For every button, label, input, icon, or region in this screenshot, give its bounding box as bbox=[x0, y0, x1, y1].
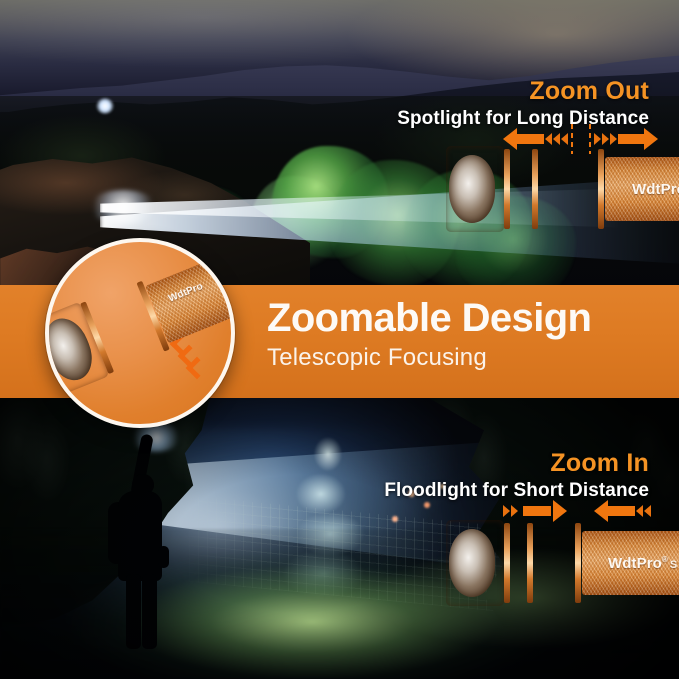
banner-text-block: Zoomable Design Telescopic Focusing bbox=[267, 297, 591, 372]
chevron-icon bbox=[610, 133, 617, 145]
zoom-out-arrow-group bbox=[503, 128, 658, 150]
chevron-icon bbox=[545, 131, 567, 147]
flashlight-zoom-barrel bbox=[539, 151, 599, 227]
product-feature-image: Zoom Out Spotlight for Long Distance bbox=[0, 0, 679, 679]
chevron-icon bbox=[602, 133, 609, 145]
brand-logo: WdtPro® bbox=[632, 181, 679, 198]
arrow-right-icon bbox=[594, 128, 658, 150]
arrow-right-icon bbox=[503, 500, 567, 522]
flashlight-ring bbox=[575, 523, 581, 603]
zoom-out-title: Zoom Out bbox=[397, 78, 649, 106]
zoom-out-label-block: Zoom Out Spotlight for Long Distance bbox=[397, 78, 649, 129]
flashlight-ring bbox=[504, 523, 510, 603]
arrow-left-icon bbox=[594, 500, 658, 522]
chevron-icon bbox=[644, 505, 651, 517]
flashlight-extended: WdtPro® bbox=[446, 141, 679, 237]
spotlight-source bbox=[96, 98, 114, 114]
center-dash-line bbox=[571, 124, 573, 154]
product-closeup-circle: WdtPro bbox=[45, 238, 235, 428]
banner-headline: Zoomable Design bbox=[267, 297, 591, 339]
flashlight-ring bbox=[504, 149, 510, 229]
arrow-right-tip bbox=[553, 500, 567, 522]
banner-subheadline: Telescopic Focusing bbox=[267, 344, 591, 372]
zoom-out-subtitle: Spotlight for Long Distance bbox=[397, 108, 649, 130]
chevron-icon bbox=[511, 505, 518, 517]
arrow-right-shaft bbox=[523, 506, 551, 516]
flashlight-ring bbox=[598, 149, 604, 229]
chevron-icon bbox=[636, 505, 643, 517]
center-dash-line bbox=[589, 124, 591, 154]
arrow-right-tip bbox=[644, 128, 658, 150]
chevron-icon bbox=[594, 133, 601, 145]
chevron-icon bbox=[553, 133, 560, 145]
flashlight-retracted: WdtPro®S bbox=[446, 515, 679, 611]
zoom-in-subtitle: Floodlight for Short Distance bbox=[384, 480, 649, 502]
zoom-in-label-block: Zoom In Floodlight for Short Distance bbox=[384, 450, 649, 501]
zoom-in-title: Zoom In bbox=[384, 450, 649, 478]
brand-logo: WdtPro®S bbox=[608, 555, 677, 572]
chevron-icon bbox=[636, 503, 658, 519]
flashlight-collar bbox=[512, 151, 532, 227]
brand-name: WdtPro bbox=[608, 555, 662, 572]
flashlight-collar bbox=[511, 525, 527, 601]
flashlight-lens bbox=[449, 155, 495, 223]
arrow-left-tip bbox=[594, 500, 608, 522]
arrow-left-shaft bbox=[516, 134, 544, 144]
flashlight-lens bbox=[449, 529, 495, 597]
brand-name: WdtPro bbox=[632, 181, 679, 198]
chevron-icon bbox=[561, 133, 568, 145]
flashlight-ring bbox=[527, 523, 533, 603]
flashlight-zoom-barrel bbox=[534, 525, 576, 601]
chevron-icon bbox=[503, 505, 510, 517]
flashlight-ring bbox=[532, 149, 538, 229]
zoom-in-arrow-group bbox=[503, 500, 658, 522]
chevron-icon bbox=[545, 133, 552, 145]
sku-text: S bbox=[670, 559, 677, 571]
arrow-left-shaft bbox=[607, 506, 635, 516]
chevron-icon bbox=[503, 503, 525, 519]
spotlight-hotspot bbox=[88, 190, 158, 224]
trademark-symbol: ® bbox=[662, 555, 668, 564]
arrow-left-icon bbox=[503, 128, 567, 150]
arrow-left-tip bbox=[503, 128, 517, 150]
chevron-icon bbox=[594, 131, 616, 147]
arrow-right-shaft bbox=[618, 134, 644, 144]
